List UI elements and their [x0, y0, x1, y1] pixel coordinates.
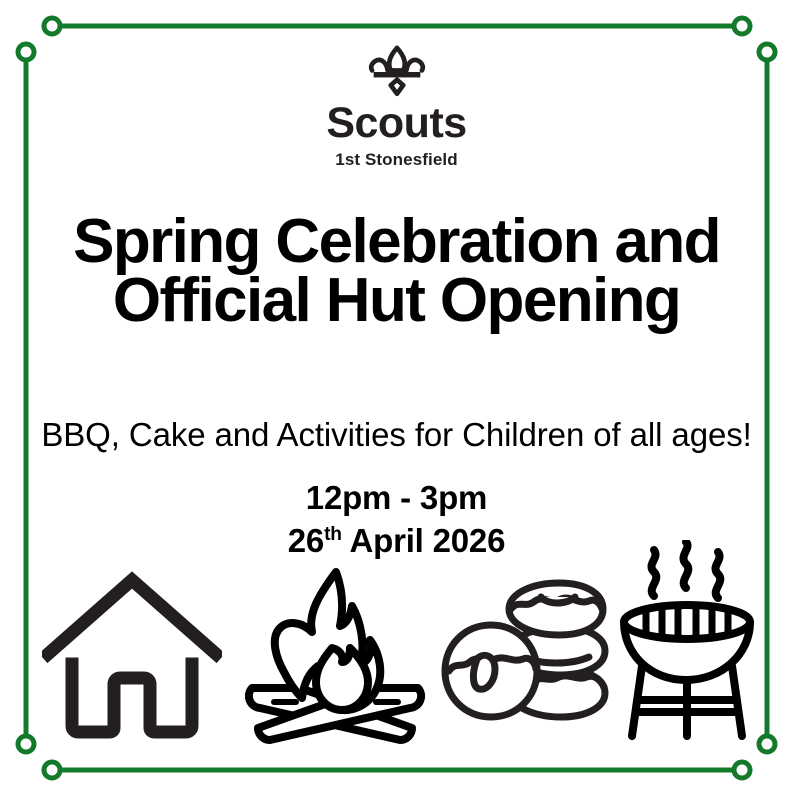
campfire-icon	[240, 562, 430, 752]
event-description: BBQ, Cake and Activities for Children of…	[40, 414, 753, 457]
frame-dot-top-left	[44, 18, 60, 34]
scouts-wordmark: Scouts	[0, 102, 793, 145]
event-time: 12pm - 3pm	[40, 477, 753, 520]
scouts-logo: Scouts 1st Stonesfield	[0, 44, 793, 168]
headline-line-1: Spring Celebration and	[26, 212, 767, 272]
icon-row	[0, 552, 793, 776]
bbq-grill-icon	[612, 540, 762, 750]
scout-group-name: 1st Stonesfield	[0, 151, 793, 168]
poster-canvas: Scouts 1st Stonesfield Spring Celebratio…	[0, 0, 793, 796]
house-icon	[42, 568, 222, 748]
event-date-suffix: th	[324, 524, 342, 545]
headline-line-2: Official Hut Opening	[26, 271, 767, 331]
fleur-de-lis-icon	[358, 44, 436, 100]
donuts-icon	[437, 575, 612, 740]
frame-dot-top-right	[734, 18, 750, 34]
fleur-crossbar	[373, 72, 420, 77]
poster-headline: Spring Celebration and Official Hut Open…	[26, 212, 767, 331]
